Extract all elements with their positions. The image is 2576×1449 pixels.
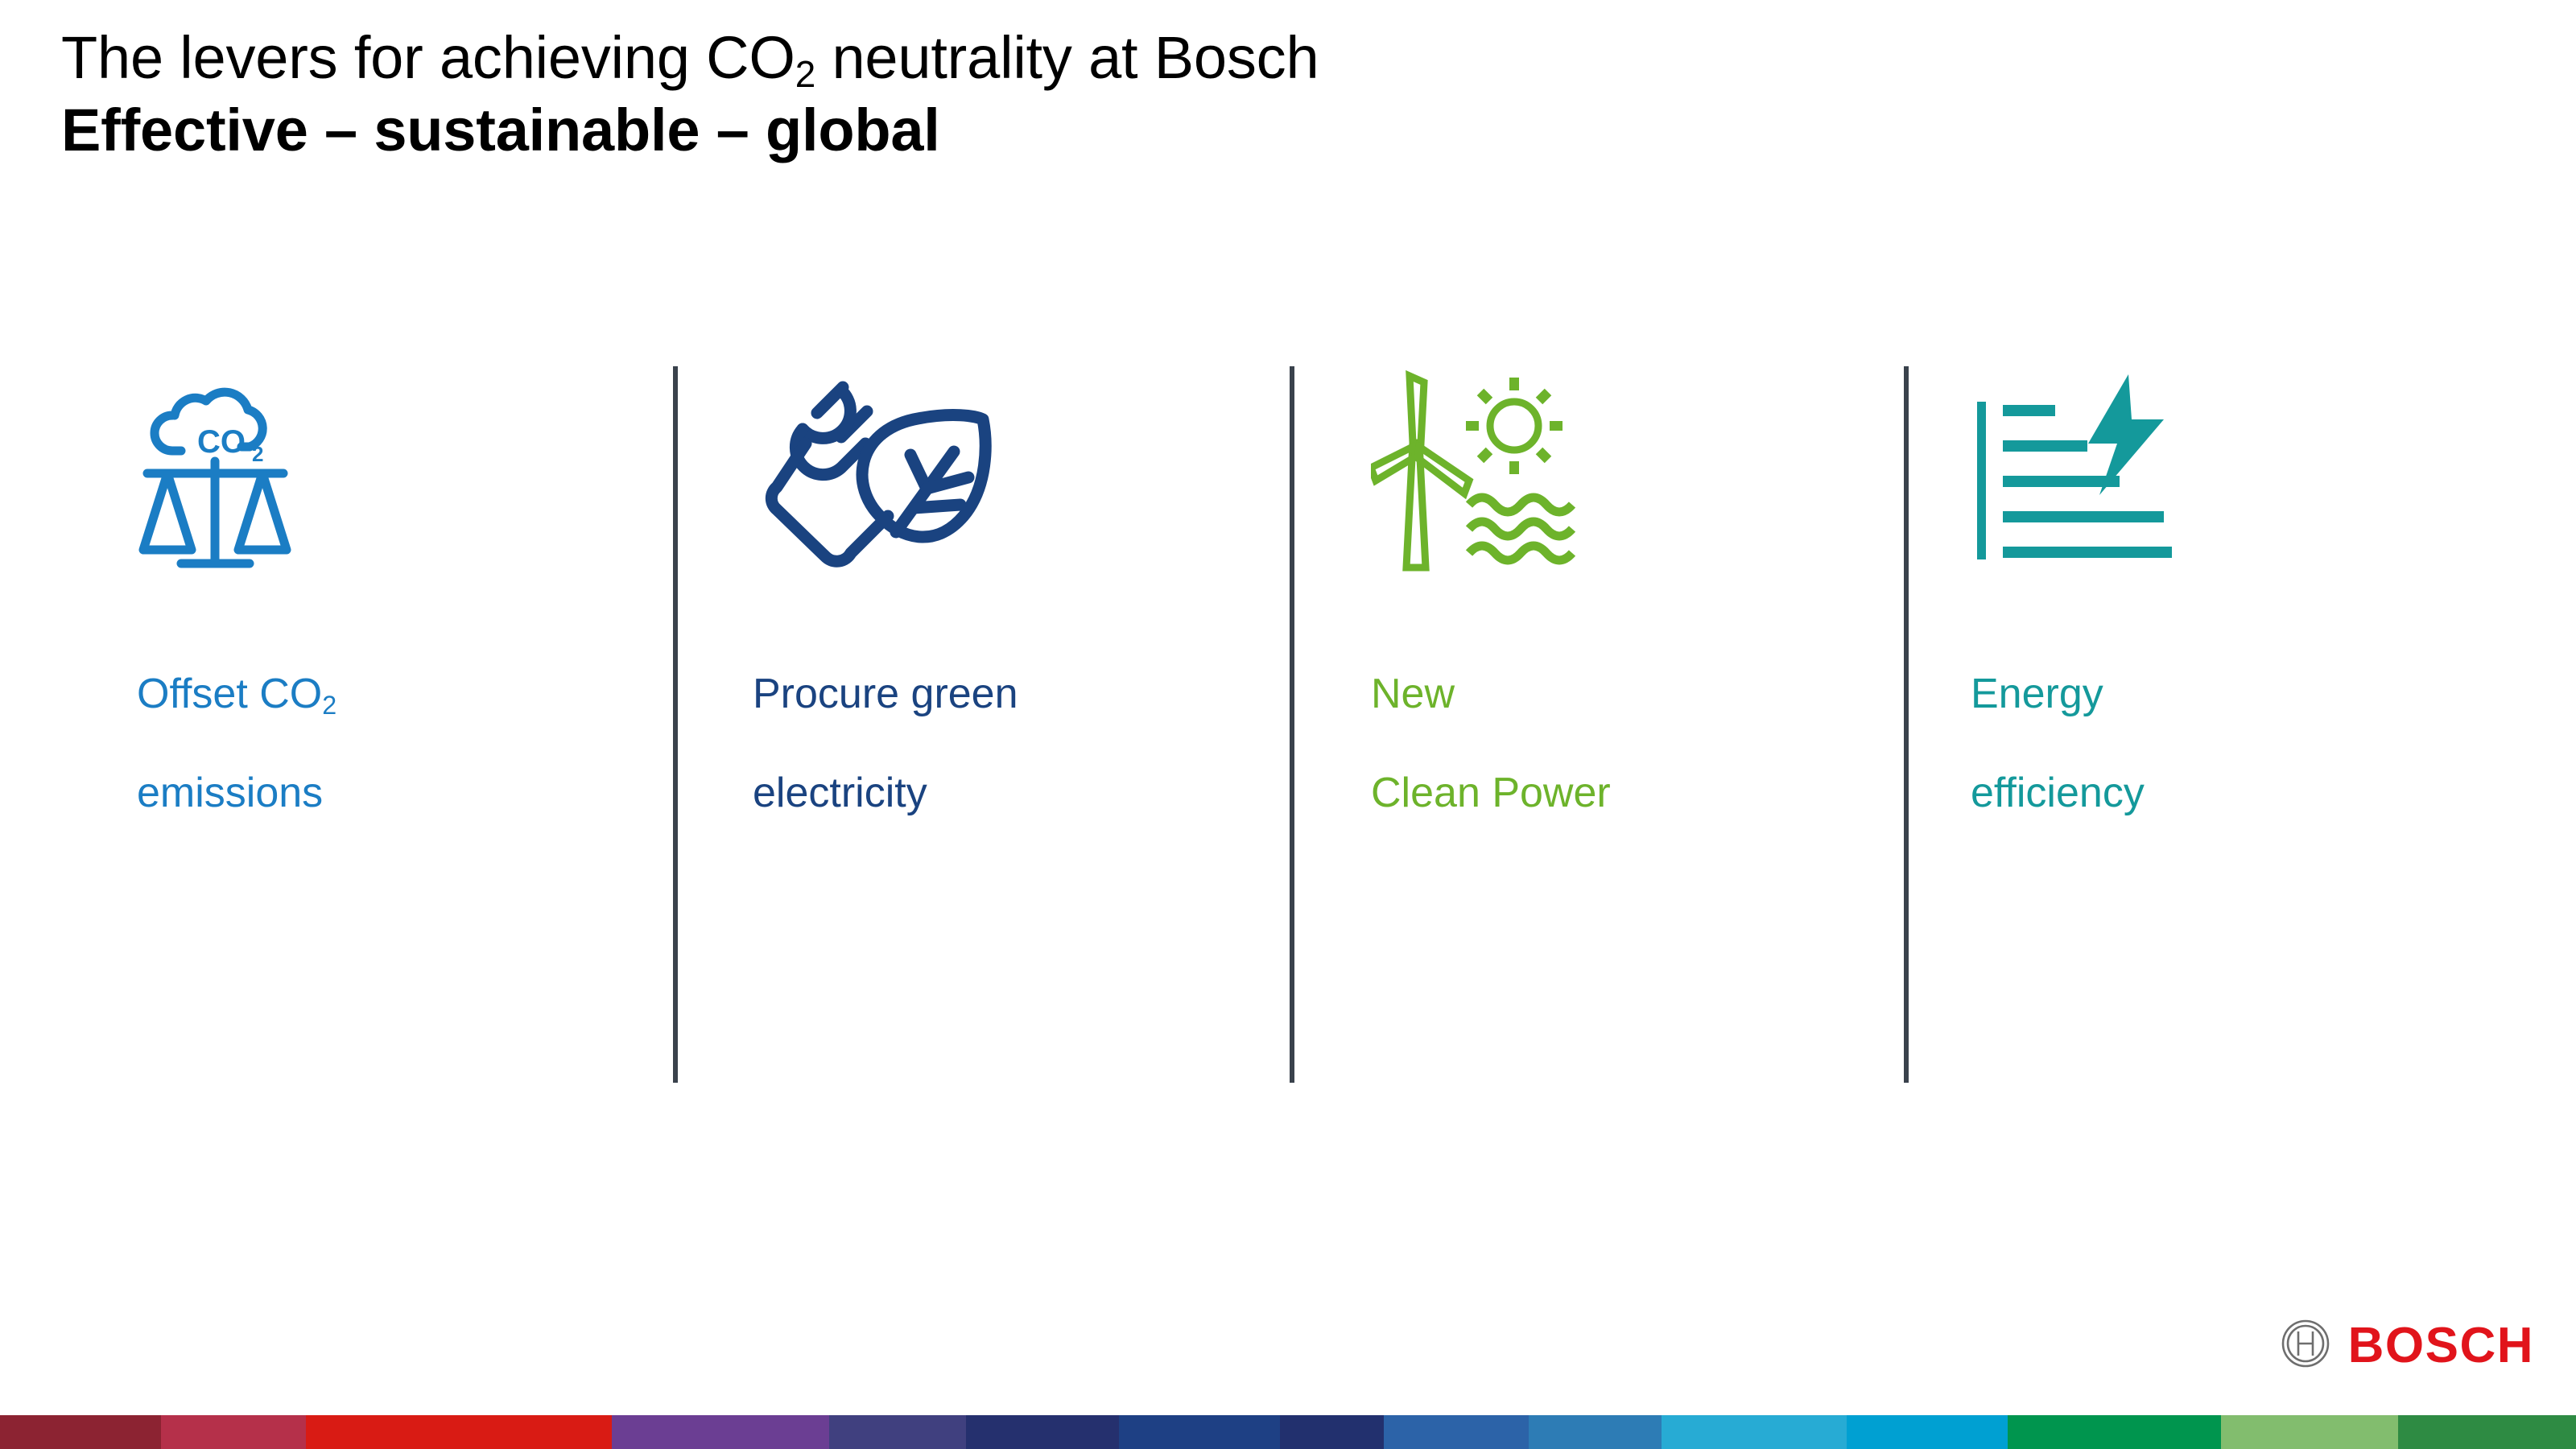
color-bar-segment-12	[1847, 1415, 2008, 1449]
color-bar-segment-9	[1384, 1415, 1529, 1449]
lever-label-energy-efficiency: Energy efficiency	[1971, 621, 2534, 818]
lever-label-line1: Energy	[1971, 671, 2103, 717]
bosch-armature-symbol	[2281, 1319, 2330, 1373]
bosch-logo: BOSCH	[2281, 1319, 2534, 1373]
lever-label-subscript: 2	[322, 691, 336, 720]
svg-text:CO: CO	[197, 424, 246, 460]
lever-label-procure-green-electricity: Procure green electricity	[753, 621, 1316, 818]
color-bar-segment-13	[2008, 1415, 2221, 1449]
co2-balance-scale-icon: CO 2	[137, 366, 700, 608]
lever-label-offset-co2-emissions: Offset CO2 emissions	[137, 621, 700, 818]
color-bar-segment-2	[161, 1415, 306, 1449]
svg-text:2: 2	[252, 442, 263, 466]
color-bar-segment-11	[1662, 1415, 1847, 1449]
lever-new-clean-power[interactable]: New Clean Power	[1371, 366, 1934, 818]
wind-sun-waves-icon	[1371, 366, 1934, 608]
lever-offset-co2-emissions[interactable]: CO 2 Offset CO2 emissions	[137, 366, 700, 818]
color-bar-segment-5	[829, 1415, 966, 1449]
lever-label-line2: emissions	[137, 770, 323, 816]
lever-label-line1-before: Offset CO	[137, 671, 322, 717]
energy-chart-bolt-icon	[1971, 366, 2534, 608]
lever-label-line1: Procure green	[753, 671, 1018, 717]
color-bar-segment-14	[2221, 1415, 2398, 1449]
color-bar-segment-7	[1119, 1415, 1280, 1449]
levers-section: CO 2 Offset CO2 emissions	[0, 0, 2576, 1449]
lever-label-line2: efficiency	[1971, 770, 2145, 816]
color-bar-segment-4	[612, 1415, 829, 1449]
color-bar-segment-8	[1280, 1415, 1385, 1449]
color-bar-segment-10	[1529, 1415, 1662, 1449]
brand-color-bar	[0, 1415, 2576, 1449]
color-bar-segment-1	[0, 1415, 161, 1449]
lever-label-line2: electricity	[753, 770, 927, 816]
lever-label-line2: Clean Power	[1371, 770, 1611, 816]
lever-label-new-clean-power: New Clean Power	[1371, 621, 1934, 818]
bosch-wordmark: BOSCH	[2348, 1321, 2534, 1371]
color-bar-segment-6	[966, 1415, 1119, 1449]
color-bar-segment-3	[306, 1415, 612, 1449]
plug-leaf-icon	[753, 366, 1316, 608]
lever-label-line1: New	[1371, 671, 1455, 717]
lever-procure-green-electricity[interactable]: Procure green electricity	[753, 366, 1316, 818]
color-bar-segment-15	[2398, 1415, 2576, 1449]
lever-energy-efficiency[interactable]: Energy efficiency	[1971, 366, 2534, 818]
